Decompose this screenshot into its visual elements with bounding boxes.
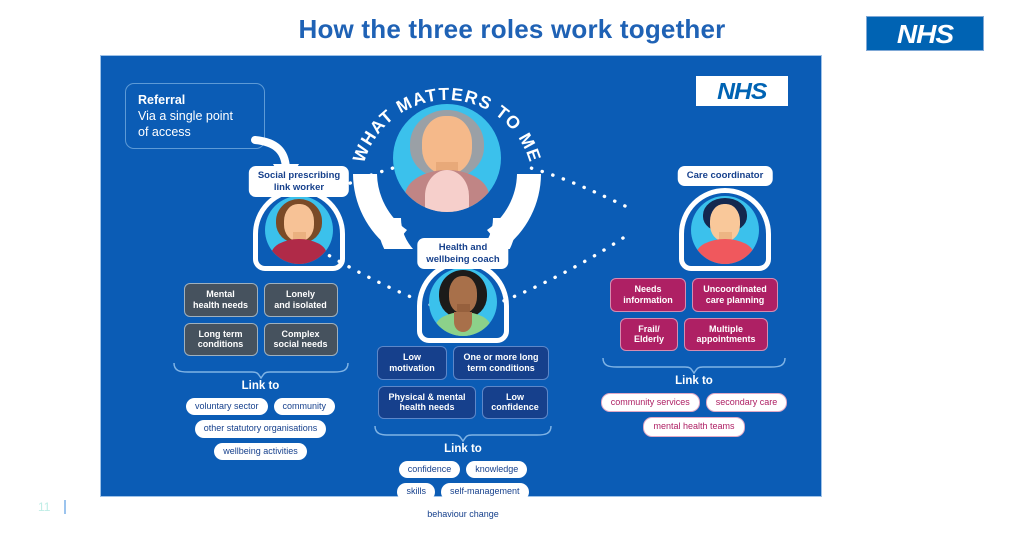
link-pill: other statutory organisations xyxy=(195,420,327,437)
link-pill-label: skills xyxy=(406,486,426,496)
brace-icon xyxy=(601,357,787,374)
column-care-coordinator: Needsinformation Uncoordinatedcare plann… xyxy=(589,278,799,442)
issue-tag-label: Multipleappointments xyxy=(696,324,755,345)
link-pill: mental health teams xyxy=(643,417,744,436)
role-node-social-prescribing-link-worker: Social prescribing link worker xyxy=(241,166,357,271)
issue-tag: Physical & mentalhealth needs xyxy=(378,386,476,420)
issue-tag: Needsinformation xyxy=(610,278,686,312)
link-pill-label: other statutory organisations xyxy=(204,423,318,433)
link-to-label: Link to xyxy=(589,375,799,387)
link-pill-label: mental health teams xyxy=(653,421,734,431)
referral-title: Referral xyxy=(138,92,264,108)
role-avatar xyxy=(265,196,333,264)
link-to-label: Link to xyxy=(163,380,358,392)
link-pill-label: knowledge xyxy=(475,464,518,474)
page-number: 11 xyxy=(38,500,50,514)
link-pill: self-management xyxy=(441,483,529,500)
role-label-line-2: link worker xyxy=(274,182,324,193)
link-pill-row: other statutory organisations xyxy=(163,420,358,437)
issue-tag-label: Mentalhealth needs xyxy=(193,289,248,310)
issue-tag-label: One or more longterm conditions xyxy=(463,352,538,373)
brace-icon xyxy=(172,362,350,379)
tag-row: Needsinformation Uncoordinatedcare plann… xyxy=(589,278,799,312)
role-avatar xyxy=(691,196,759,264)
link-pill-label: community xyxy=(283,401,327,411)
link-pill-label: self-management xyxy=(450,486,520,496)
issue-tag: One or more longterm conditions xyxy=(453,346,549,380)
role-badge: Care coordinator xyxy=(678,166,773,186)
issue-tag-label: Needsinformation xyxy=(623,284,673,305)
link-pill-label: secondary care xyxy=(716,397,778,407)
personalised-care-hub: WHAT MATTERS TO ME PERSONALISED CARE xyxy=(347,74,547,249)
link-pill: voluntary sector xyxy=(186,398,268,415)
role-badge: Health and wellbeing coach xyxy=(417,238,508,269)
tag-row: Long termconditions Complexsocial needs xyxy=(163,323,358,357)
nhs-logo-inner-text: NHS xyxy=(717,80,766,103)
role-label-line-2: wellbeing coach xyxy=(426,254,499,265)
issue-tag-label: Physical & mentalhealth needs xyxy=(388,392,465,413)
link-pill: community services xyxy=(601,393,700,412)
role-avatar xyxy=(429,268,497,336)
role-node-health-and-wellbeing-coach: Health and wellbeing coach xyxy=(405,238,521,343)
issue-tag: Lonelyand isolated xyxy=(264,283,338,317)
referral-line-1: Via a single point xyxy=(138,108,264,124)
tag-row: Physical & mentalhealth needs Lowconfide… xyxy=(361,386,565,420)
link-pill-row: voluntary sector community xyxy=(163,398,358,415)
referral-callout: Referral Via a single point of access xyxy=(125,83,265,149)
nhs-logo-top-text: NHS xyxy=(897,21,953,47)
issue-tag-label: Complexsocial needs xyxy=(273,329,327,350)
tag-row: Frail/Elderly Multipleappointments xyxy=(589,318,799,352)
column-social-prescribing-link-worker: Mentalhealth needs Lonelyand isolated Lo… xyxy=(163,283,358,465)
link-pill: community xyxy=(274,398,336,415)
issue-tag-label: Uncoordinatedcare planning xyxy=(703,284,767,305)
nhs-logo-inner-icon: NHS xyxy=(696,76,788,106)
link-pill-row: behaviour change xyxy=(361,506,565,523)
role-node-care-coordinator: Care coordinator xyxy=(667,166,783,271)
role-badge: Social prescribing link worker xyxy=(249,166,349,197)
link-to-label: Link to xyxy=(361,443,565,455)
issue-tag: Frail/Elderly xyxy=(620,318,678,352)
issue-tag: Complexsocial needs xyxy=(264,323,338,357)
link-pill: confidence xyxy=(399,461,461,478)
page-footer: 11 xyxy=(38,500,66,514)
link-pill: secondary care xyxy=(706,393,788,412)
brace-icon xyxy=(373,425,553,442)
link-pill-label: wellbeing activities xyxy=(223,446,298,456)
issue-tag: Lowconfidence xyxy=(482,386,548,420)
link-pill: behaviour change xyxy=(418,506,508,523)
tag-row: Lowmotivation One or more longterm condi… xyxy=(361,346,565,380)
tag-row: Mentalhealth needs Lonelyand isolated xyxy=(163,283,358,317)
issue-tag-label: Long termconditions xyxy=(198,329,244,350)
link-pill-row: mental health teams xyxy=(589,417,799,436)
link-pill-row: skills self-management xyxy=(361,483,565,500)
issue-tag-label: Lonelyand isolated xyxy=(274,289,327,310)
link-pill-row: confidence knowledge xyxy=(361,461,565,478)
column-health-and-wellbeing-coach: Lowmotivation One or more longterm condi… xyxy=(361,346,565,528)
link-pill: wellbeing activities xyxy=(214,443,307,460)
nhs-logo-icon: NHS xyxy=(866,16,984,51)
footer-divider xyxy=(64,500,66,514)
role-label-line-1: Health and xyxy=(439,242,488,253)
link-pill-label: confidence xyxy=(408,464,452,474)
issue-tag-label: Lowconfidence xyxy=(491,392,539,413)
role-label-line-1: Social prescribing xyxy=(258,170,340,181)
diagram-panel: NHS Referral Via a single point of acces… xyxy=(100,55,822,497)
link-pill-label: behaviour change xyxy=(427,509,499,519)
referral-line-2: of access xyxy=(138,124,264,140)
role-label-line-1: Care coordinator xyxy=(687,170,764,181)
link-pill-row: community services secondary care xyxy=(589,393,799,412)
link-pill-label: voluntary sector xyxy=(195,401,259,411)
issue-tag: Multipleappointments xyxy=(684,318,768,352)
issue-tag: Lowmotivation xyxy=(377,346,447,380)
link-pill-label: community services xyxy=(611,397,690,407)
issue-tag: Uncoordinatedcare planning xyxy=(692,278,778,312)
link-pill: skills xyxy=(397,483,435,500)
link-pill: knowledge xyxy=(466,461,527,478)
issue-tag: Mentalhealth needs xyxy=(184,283,258,317)
issue-tag: Long termconditions xyxy=(184,323,258,357)
hub-avatar xyxy=(393,104,501,212)
link-pill-row: wellbeing activities xyxy=(163,443,358,460)
issue-tag-label: Frail/Elderly xyxy=(634,324,664,345)
issue-tag-label: Lowmotivation xyxy=(389,352,435,373)
